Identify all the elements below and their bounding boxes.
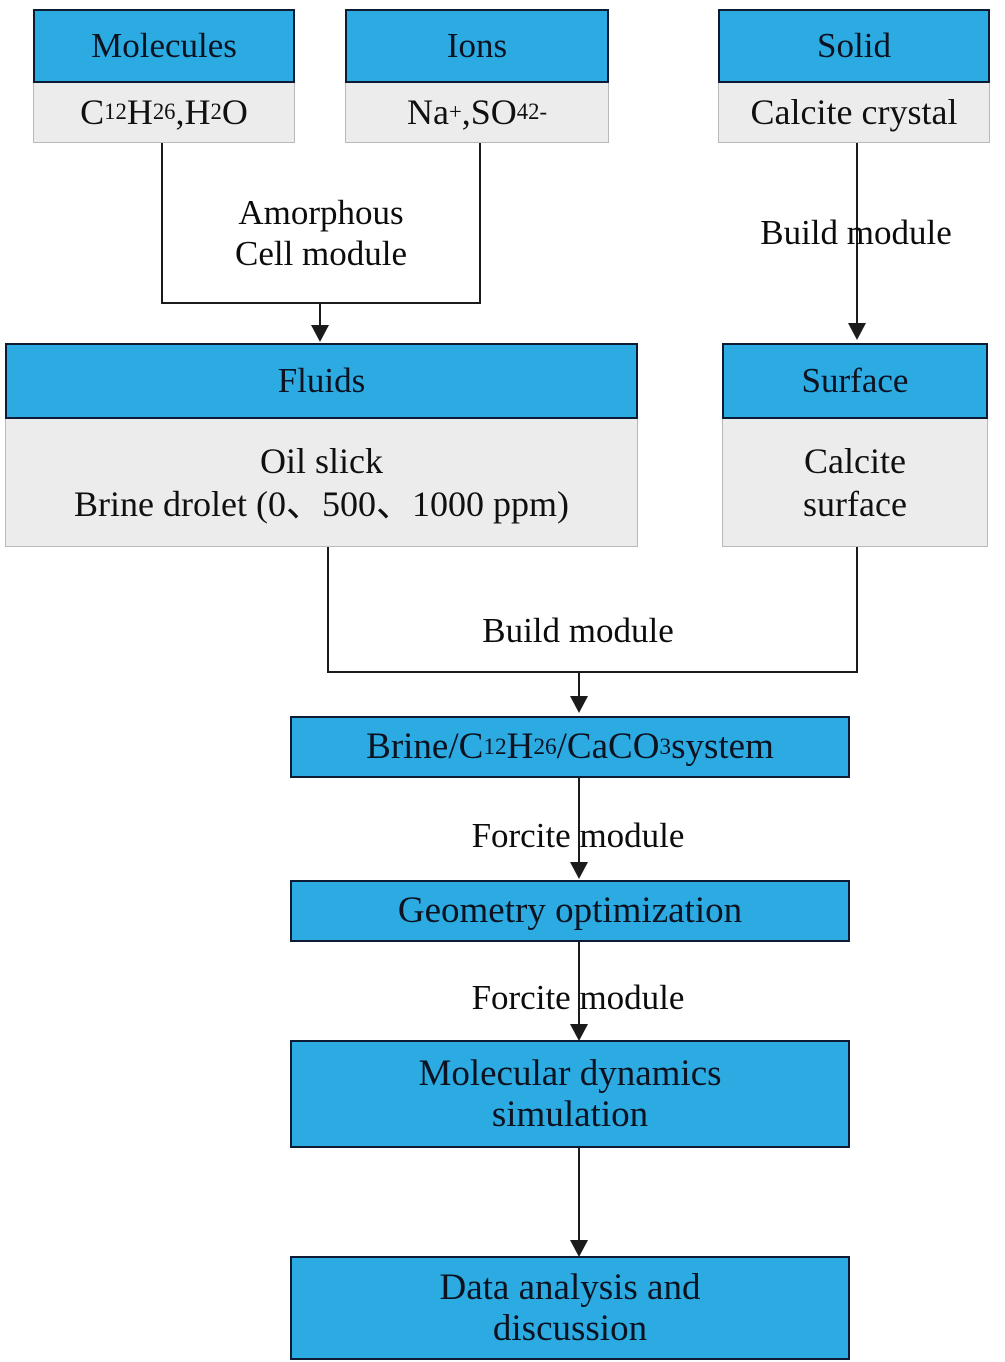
connector-merge-stem-2 — [578, 671, 580, 699]
edge-label-amorphous-cell: Amorphous Cell module — [171, 192, 471, 275]
node-brine-system[interactable]: Brine/C12H26/CaCO3 system — [290, 716, 850, 778]
node-solid[interactable]: Solid Calcite crystal — [718, 9, 990, 143]
arrowhead-to-fluids — [311, 325, 329, 342]
node-md-simulation[interactable]: Molecular dynamicssimulation — [290, 1040, 850, 1148]
arrowhead-to-geometry — [570, 862, 588, 879]
arrowhead-to-system — [570, 696, 588, 713]
node-surface-header: Surface — [722, 343, 988, 419]
node-surface-body: Calcitesurface — [722, 419, 988, 547]
connector-molecules-down — [161, 143, 163, 303]
node-ions[interactable]: Ions Na+,SO42- — [345, 9, 609, 143]
connector-ions-down — [479, 143, 481, 303]
node-solid-header: Solid — [718, 9, 990, 83]
connector-merge-bar-2 — [327, 671, 858, 673]
edge-label-build-module-center: Build module — [428, 610, 728, 651]
node-surface[interactable]: Surface Calcitesurface — [722, 343, 988, 547]
node-molecules-body: C12H26,H2O — [33, 83, 295, 143]
connector-md-to-analysis — [578, 1148, 580, 1244]
edge-label-build-module-right: Build module — [706, 212, 1005, 253]
node-molecules-header: Molecules — [33, 9, 295, 83]
node-molecules[interactable]: Molecules C12H26,H2O — [33, 9, 295, 143]
edge-label-forcite-2: Forcite module — [428, 977, 728, 1018]
node-data-analysis[interactable]: Data analysis anddiscussion — [290, 1256, 850, 1360]
node-fluids-body: Oil slickBrine drolet (0、500、1000 ppm) — [5, 419, 638, 547]
node-fluids-header: Fluids — [5, 343, 638, 419]
node-ions-header: Ions — [345, 9, 609, 83]
arrowhead-to-md — [570, 1024, 588, 1041]
node-geometry-optimization[interactable]: Geometry optimization — [290, 880, 850, 942]
arrowhead-to-analysis — [570, 1240, 588, 1257]
connector-surface-down — [856, 547, 858, 673]
node-solid-body: Calcite crystal — [718, 83, 990, 143]
flowchart-canvas: Molecules C12H26,H2O Ions Na+,SO42- Soli… — [0, 0, 1005, 1362]
node-fluids[interactable]: Fluids Oil slickBrine drolet (0、500、1000… — [5, 343, 638, 547]
connector-fluids-down — [327, 547, 329, 673]
node-ions-body: Na+,SO42- — [345, 83, 609, 143]
arrowhead-to-surface — [848, 323, 866, 340]
edge-label-forcite-1: Forcite module — [428, 815, 728, 856]
connector-merge-bar-1 — [161, 302, 481, 304]
